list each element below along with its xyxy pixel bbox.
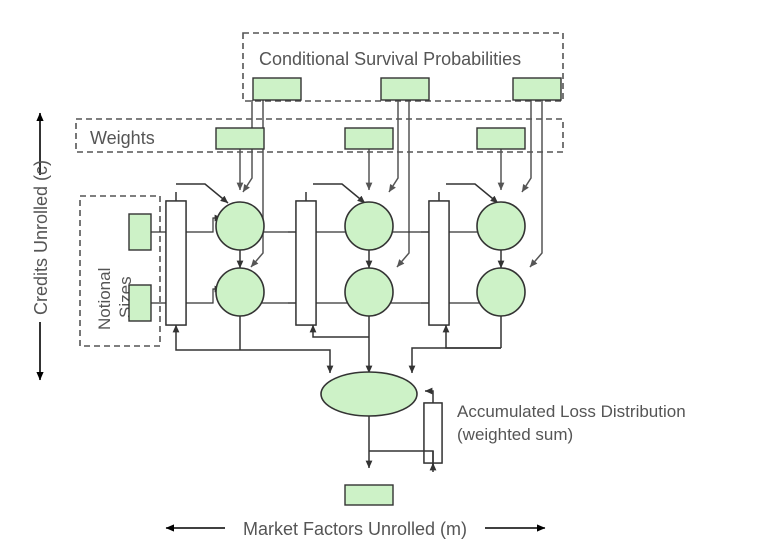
wire-bar-to-node-2-1 [313, 184, 365, 203]
wire-node2-to-ellipse-col3 [412, 348, 501, 373]
group-title-weights: Weights [90, 128, 155, 148]
weight-box-3[interactable] [477, 128, 525, 149]
notional-bar-col3 [429, 201, 449, 325]
csp-box-1[interactable] [253, 78, 301, 100]
wire-feedback-col2 [313, 325, 369, 337]
csp-box-2[interactable] [381, 78, 429, 100]
diagram-canvas: Conditional Survival Probabilities Weigh… [0, 0, 763, 554]
node-c1-r1[interactable] [216, 202, 264, 250]
vertical-axis-label: Credits Unrolled (c) [31, 160, 51, 315]
wire-accumbar-to-ellipse [425, 391, 433, 403]
horizontal-axis-label: Market Factors Unrolled (m) [243, 519, 467, 539]
output-box[interactable] [345, 485, 393, 505]
accumulator-ellipse[interactable] [321, 372, 417, 416]
notional-bar-col1 [166, 201, 186, 325]
diagram-svg: Conditional Survival Probabilities Weigh… [0, 0, 763, 554]
node-c2-r2[interactable] [345, 268, 393, 316]
notional-bar-col2 [296, 201, 316, 325]
annotation-accum-line1: Accumulated Loss Distribution [457, 402, 686, 421]
wires-csp-column-3 [522, 100, 542, 267]
notional-box-1[interactable] [129, 214, 151, 250]
wire-feedback-col3 [446, 325, 501, 348]
node-c1-r2[interactable] [216, 268, 264, 316]
wire-bar-to-node-3-1 [446, 184, 498, 203]
weight-box-2[interactable] [345, 128, 393, 149]
wire-feedback-col1 [176, 325, 240, 350]
node-c3-r2[interactable] [477, 268, 525, 316]
group-title-notional-1: Notional [95, 268, 114, 330]
wires-csp-column-2 [389, 100, 409, 267]
wire-node2-to-ellipse-col1 [240, 350, 330, 373]
group-title-csp: Conditional Survival Probabilities [259, 49, 521, 69]
csp-box-3[interactable] [513, 78, 561, 100]
notional-box-2[interactable] [129, 285, 151, 321]
annotation-accum-line2: (weighted sum) [457, 425, 573, 444]
node-c2-r1[interactable] [345, 202, 393, 250]
node-c3-r1[interactable] [477, 202, 525, 250]
wire-bar-to-node-1-1 [176, 184, 228, 203]
weight-box-1[interactable] [216, 128, 264, 149]
